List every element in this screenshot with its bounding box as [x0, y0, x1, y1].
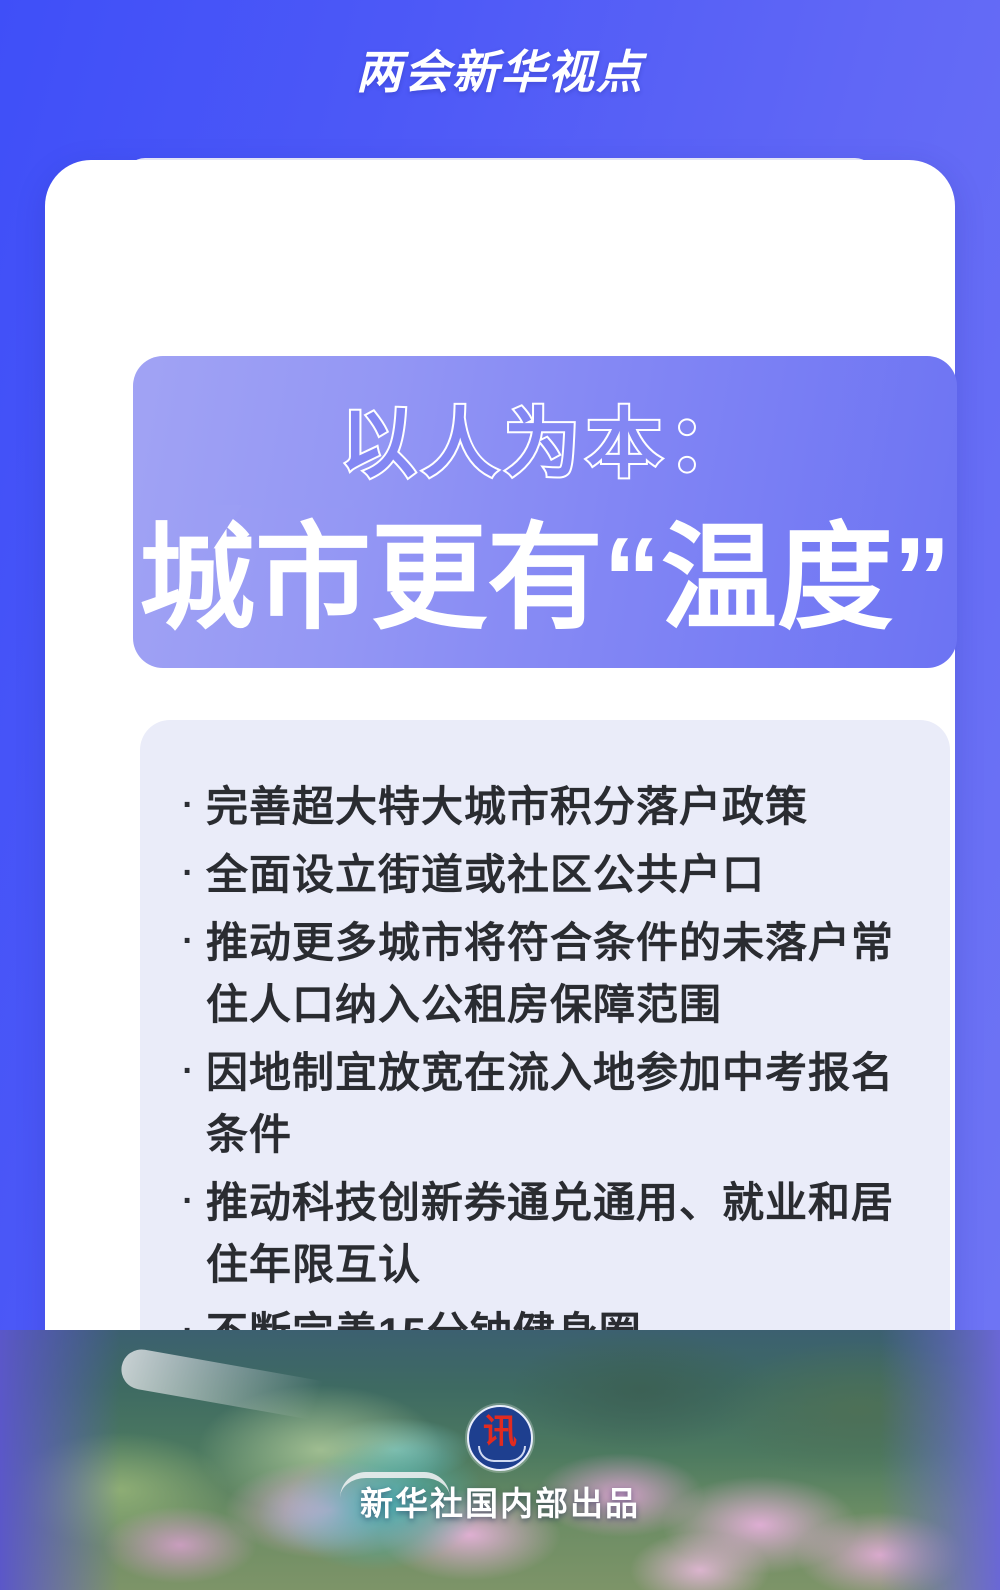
list-item-label: 推动更多城市将符合条件的未落户常住人口纳入公租房保障范围	[206, 912, 910, 1036]
list-item: · 推动更多城市将符合条件的未落户常住人口纳入公租房保障范围	[170, 912, 910, 1036]
footer: 讯 新华社国内部出品	[0, 1405, 1000, 1525]
list-item: · 完善超大特大城市积分落户政策	[170, 776, 910, 838]
page-title: 两会新华视点	[0, 36, 1000, 102]
bullet-marker-icon: ·	[170, 842, 206, 904]
list-item: · 全面设立街道或社区公共户口	[170, 844, 910, 906]
list-item-label: 因地制宜放宽在流入地参加中考报名条件	[206, 1042, 910, 1166]
list-item-label: 推动科技创新券通兑通用、就业和居住年限互认	[206, 1172, 910, 1296]
content-card: 以人为本： 城市更有“温度” · 完善超大特大城市积分落户政策 · 全面设立街道…	[45, 160, 955, 1403]
list-item: · 推动科技创新券通兑通用、就业和居住年限互认	[170, 1172, 910, 1296]
list-item: · 因地制宜放宽在流入地参加中考报名条件	[170, 1042, 910, 1166]
list-item-label: 全面设立街道或社区公共户口	[206, 844, 910, 906]
title-line-1: 以人为本：	[133, 382, 957, 492]
list-item-label: 完善超大特大城市积分落户政策	[206, 776, 910, 838]
poster-root: 两会新华视点 以人为本： 城市更有“温度” · 完善超大特大城市积分落户政策 ·…	[0, 0, 1000, 1590]
speech-bubble-tail-icon	[208, 505, 364, 557]
logo-ring-icon	[478, 1446, 526, 1462]
bullet-marker-icon: ·	[170, 774, 206, 836]
bullet-marker-icon: ·	[170, 1040, 206, 1102]
agency-credit: 新华社国内部出品	[0, 1477, 1000, 1525]
bullet-marker-icon: ·	[170, 910, 206, 972]
bullet-marker-icon: ·	[170, 1170, 206, 1232]
xinhua-agency-logo-icon: 讯	[467, 1405, 533, 1471]
